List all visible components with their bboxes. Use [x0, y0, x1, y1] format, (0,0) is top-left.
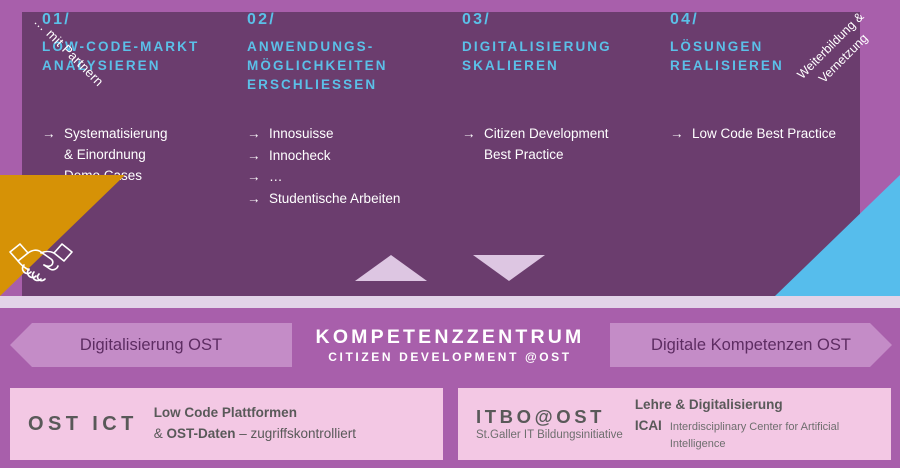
kompetenzzentrum-heading: KOMPETENZZENTRUM CITIZEN DEVELOPMENT @OS…	[300, 326, 600, 366]
column-number: 03/	[462, 12, 667, 28]
list-item: → Studentische Arbeiten	[247, 189, 462, 210]
partner-box-ost-ict: OST ICT Low Code Plattformen & OST-Daten…	[10, 388, 443, 460]
column-title-line: SKALIEREN	[462, 56, 667, 75]
list-item-label: Innocheck	[269, 148, 331, 163]
column-title: ANWENDUNGS- MÖGLICHKEITEN ERSCHLIESSEN	[247, 37, 452, 94]
chevron-left-banner[interactable]: Digitalisierung OST	[10, 323, 292, 367]
arrow-right-icon: →	[42, 124, 56, 145]
list-item-label: Systematisierung	[64, 126, 168, 141]
itbo-line-1: Lehre & Digitalisierung	[635, 395, 891, 416]
list-item-label: Studentische Arbeiten	[269, 191, 400, 206]
column-title-line: MÖGLICHKEITEN	[247, 56, 452, 75]
column-title: DIGITALISIERUNG SKALIEREN	[462, 37, 667, 75]
chevron-right-label: Digitale Kompetenzen OST	[651, 336, 851, 355]
section-divider	[0, 296, 900, 308]
list-item-label: Innosuisse	[269, 126, 334, 141]
process-column-04-list: → Low Code Best Practice	[670, 124, 870, 146]
list-item: → …	[247, 167, 462, 188]
column-title-line: ERSCHLIESSEN	[247, 75, 452, 94]
partner-logos-section: OST ICT Low Code Plattformen & OST-Daten…	[0, 380, 900, 468]
itbo-description: Lehre & Digitalisierung ICAI Interdiscip…	[635, 395, 891, 453]
triangle-down-icon	[473, 255, 545, 281]
arrow-right-icon: →	[247, 146, 261, 167]
column-number: 01/	[42, 12, 247, 28]
ost-ict-line-1: Low Code Plattformen	[154, 403, 356, 424]
ost-ict-line-2-prefix: &	[154, 426, 167, 441]
list-item: → Low Code Best Practice	[670, 124, 870, 145]
process-panel: 01/ LOW-CODE-MARKT ANALYSIEREN → Systema…	[22, 12, 860, 296]
ost-ict-logo: OST ICT	[10, 413, 154, 436]
list-item: → Systematisierung & Einordnung	[42, 124, 247, 165]
ost-ict-line-2-bold: OST-Daten	[166, 426, 235, 441]
arrow-right-icon: →	[247, 189, 261, 210]
list-item-label: …	[269, 169, 283, 184]
chevron-left-label: Digitalisierung OST	[80, 336, 222, 355]
ost-ict-line-2-suffix: – zugriffskontrolliert	[235, 426, 356, 441]
process-overview-section: 01/ LOW-CODE-MARKT ANALYSIEREN → Systema…	[0, 0, 900, 296]
weiterbildung-corner-shape	[775, 175, 900, 296]
icai-abbreviation: ICAI	[635, 416, 662, 437]
itbo-logo-subtitle: St.Galler IT Bildungsinitiative	[476, 428, 623, 444]
process-column-02: 02/ ANWENDUNGS- MÖGLICHKEITEN ERSCHLIESS…	[247, 12, 452, 94]
list-item-label: Citizen Development	[484, 126, 609, 141]
process-column-03: 03/ DIGITALISIERUNG SKALIEREN	[462, 12, 667, 75]
list-item-continuation: Best Practice	[484, 145, 662, 166]
arrow-right-icon: →	[247, 124, 261, 145]
column-title-line: DIGITALISIERUNG	[462, 37, 667, 56]
process-column-02-list: → Innosuisse → Innocheck → … → Studentis…	[247, 124, 462, 210]
list-item-continuation: & Einordnung	[64, 145, 247, 166]
arrow-right-icon: →	[462, 124, 476, 145]
ost-ict-description: Low Code Plattformen & OST-Daten – zugri…	[154, 403, 356, 445]
kompetenzzentrum-band: Digitalisierung OST KOMPETENZZENTRUM CIT…	[0, 308, 900, 380]
partner-box-itbo-ost: ITBO@OST St.Galler IT Bildungsinitiative…	[458, 388, 891, 460]
weiterbildung-corner-ribbon	[775, 175, 900, 296]
list-item: → Citizen Development Best Practice	[462, 124, 662, 165]
triangle-up-icon	[355, 255, 427, 281]
ost-ict-line-2: & OST-Daten – zugriffskontrolliert	[154, 424, 356, 445]
column-title-line: ANWENDUNGS-	[247, 37, 452, 56]
itbo-logo: ITBO@OST	[476, 405, 623, 428]
icai-full-name: Interdisciplinary Center for Artificial …	[670, 419, 891, 453]
column-number: 02/	[247, 12, 452, 28]
icai-line: ICAI Interdisciplinary Center for Artifi…	[635, 416, 891, 453]
list-item: → Innosuisse	[247, 124, 462, 145]
process-column-03-list: → Citizen Development Best Practice	[462, 124, 662, 166]
list-item-label: Low Code Best Practice	[692, 126, 836, 141]
list-item: → Innocheck	[247, 146, 462, 167]
arrow-right-icon: →	[247, 167, 261, 188]
chevron-right-banner[interactable]: Digitale Kompetenzen OST	[610, 323, 892, 367]
kompetenzzentrum-subtitle: CITIZEN DEVELOPMENT @OST	[300, 348, 600, 366]
arrow-right-icon: →	[670, 124, 684, 145]
handshake-icon	[8, 236, 74, 288]
kompetenzzentrum-title: KOMPETENZZENTRUM	[300, 326, 600, 348]
itbo-logo-block: ITBO@OST St.Galler IT Bildungsinitiative	[458, 405, 635, 444]
